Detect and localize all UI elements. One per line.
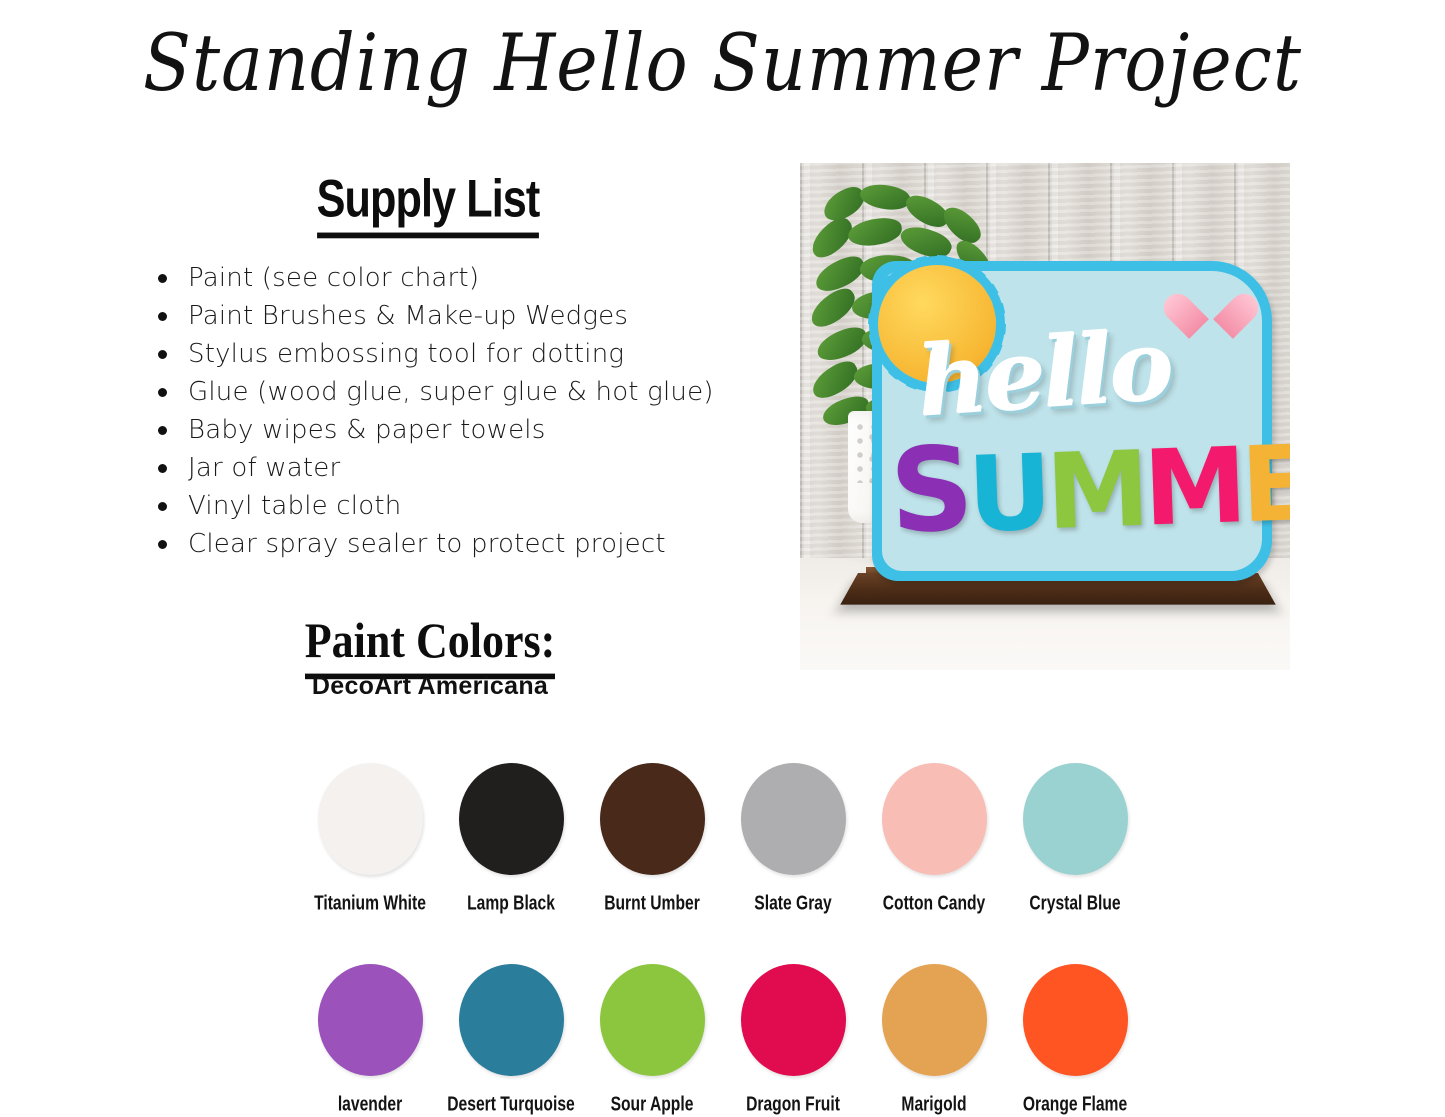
color-swatch [882, 763, 987, 875]
summer-letter: E [1239, 436, 1290, 534]
list-item-label: Baby wipes & paper towels [188, 415, 545, 445]
list-item-label: Glue (wood glue, super glue & hot glue) [188, 377, 714, 407]
swatch-cell: Dragon Fruit [723, 964, 863, 1113]
summer-letter: S [888, 437, 969, 546]
bullet-icon [158, 540, 167, 549]
supply-list-heading: Supply List [165, 167, 691, 229]
swatch-cell: Lamp Black [441, 763, 581, 912]
color-swatch [1023, 964, 1128, 1076]
bullet-icon [158, 464, 167, 473]
list-item: Jar of water [152, 449, 832, 487]
color-swatch [882, 964, 987, 1076]
swatch-row-1: Titanium White Lamp Black Burnt Umber Sl… [300, 763, 1145, 912]
sign-script-hello: hello [914, 308, 1174, 438]
list-item: Baby wipes & paper towels [152, 411, 832, 449]
list-item-label: Vinyl table cloth [188, 491, 401, 521]
color-swatch-label: Slate Gray [729, 892, 858, 916]
list-item: Clear spray sealer to protect project [152, 525, 832, 563]
hello-summer-sign: hello S U M M E R [872, 261, 1272, 581]
swatch-cell: lavender [300, 964, 440, 1113]
color-swatch [318, 763, 423, 875]
bullet-icon [158, 388, 167, 397]
color-swatch-label: Dragon Fruit [729, 1093, 858, 1117]
color-swatch-label: Lamp Black [447, 892, 576, 916]
color-swatch-label: Cotton Candy [870, 892, 999, 916]
color-swatch [600, 964, 705, 1076]
list-item: Paint (see color chart) [152, 259, 832, 297]
list-item-label: Paint (see color chart) [188, 263, 479, 293]
swatch-cell: Crystal Blue [1005, 763, 1145, 912]
summer-letter: M [1142, 438, 1243, 537]
swatch-row-2: lavender Desert Turquoise Sour Apple Dra… [300, 964, 1145, 1113]
color-swatch [318, 964, 423, 1076]
color-swatch [459, 964, 564, 1076]
supply-list-heading-text: Supply List [317, 168, 540, 238]
paint-swatch-grid: Titanium White Lamp Black Burnt Umber Sl… [300, 763, 1145, 1113]
color-swatch-label: Crystal Blue [1011, 892, 1140, 916]
color-swatch [600, 763, 705, 875]
list-item: Glue (wood glue, super glue & hot glue) [152, 373, 832, 411]
swatch-cell: Desert Turquoise [441, 964, 581, 1113]
swatch-cell: Sour Apple [582, 964, 722, 1113]
bullet-icon [158, 426, 167, 435]
bullet-icon [158, 274, 167, 283]
color-swatch-label: Orange Flame [1011, 1093, 1140, 1117]
paint-colors-heading: Paint Colors: [150, 612, 710, 669]
swatch-cell: Burnt Umber [582, 763, 722, 912]
color-swatch-label: Sour Apple [588, 1093, 717, 1117]
swatch-cell: Orange Flame [1005, 964, 1145, 1113]
summer-letter: U [966, 445, 1048, 543]
color-swatch-label: Desert Turquoise [447, 1093, 576, 1117]
swatch-cell: Marigold [864, 964, 1004, 1113]
list-item: Stylus embossing tool for dotting [152, 335, 832, 373]
list-item-label: Jar of water [188, 453, 340, 483]
bullet-icon [158, 312, 167, 321]
swatch-cell: Titanium White [300, 763, 440, 912]
product-photo: hello S U M M E R [800, 163, 1290, 670]
color-swatch [1023, 763, 1128, 875]
supply-list: Paint (see color chart) Paint Brushes & … [152, 259, 832, 563]
list-item: Paint Brushes & Make-up Wedges [152, 297, 832, 335]
color-swatch-label: Burnt Umber [588, 892, 717, 916]
swatch-cell: Cotton Candy [864, 763, 1004, 912]
color-swatch-label: Titanium White [306, 892, 435, 916]
page-title: Standing Hello Summer Project [0, 17, 1445, 109]
list-item-label: Clear spray sealer to protect project [188, 529, 666, 559]
summer-letter: M [1045, 442, 1146, 541]
bullet-icon [158, 350, 167, 359]
color-swatch-label: lavender [306, 1093, 435, 1117]
paint-colors-heading-text: Paint Colors: [305, 613, 556, 679]
color-swatch-label: Marigold [870, 1093, 999, 1117]
heart-icon [1184, 283, 1238, 333]
list-item-label: Stylus embossing tool for dotting [188, 339, 624, 369]
bullet-icon [158, 502, 167, 511]
paint-brand-label: DecoArt Americana [150, 672, 710, 701]
list-item: Vinyl table cloth [152, 487, 832, 525]
list-item-label: Paint Brushes & Make-up Wedges [188, 301, 628, 331]
color-swatch [741, 763, 846, 875]
sign-summer-letters: S U M M E R [888, 422, 1290, 546]
color-swatch [459, 763, 564, 875]
swatch-cell: Slate Gray [723, 763, 863, 912]
color-swatch [741, 964, 846, 1076]
